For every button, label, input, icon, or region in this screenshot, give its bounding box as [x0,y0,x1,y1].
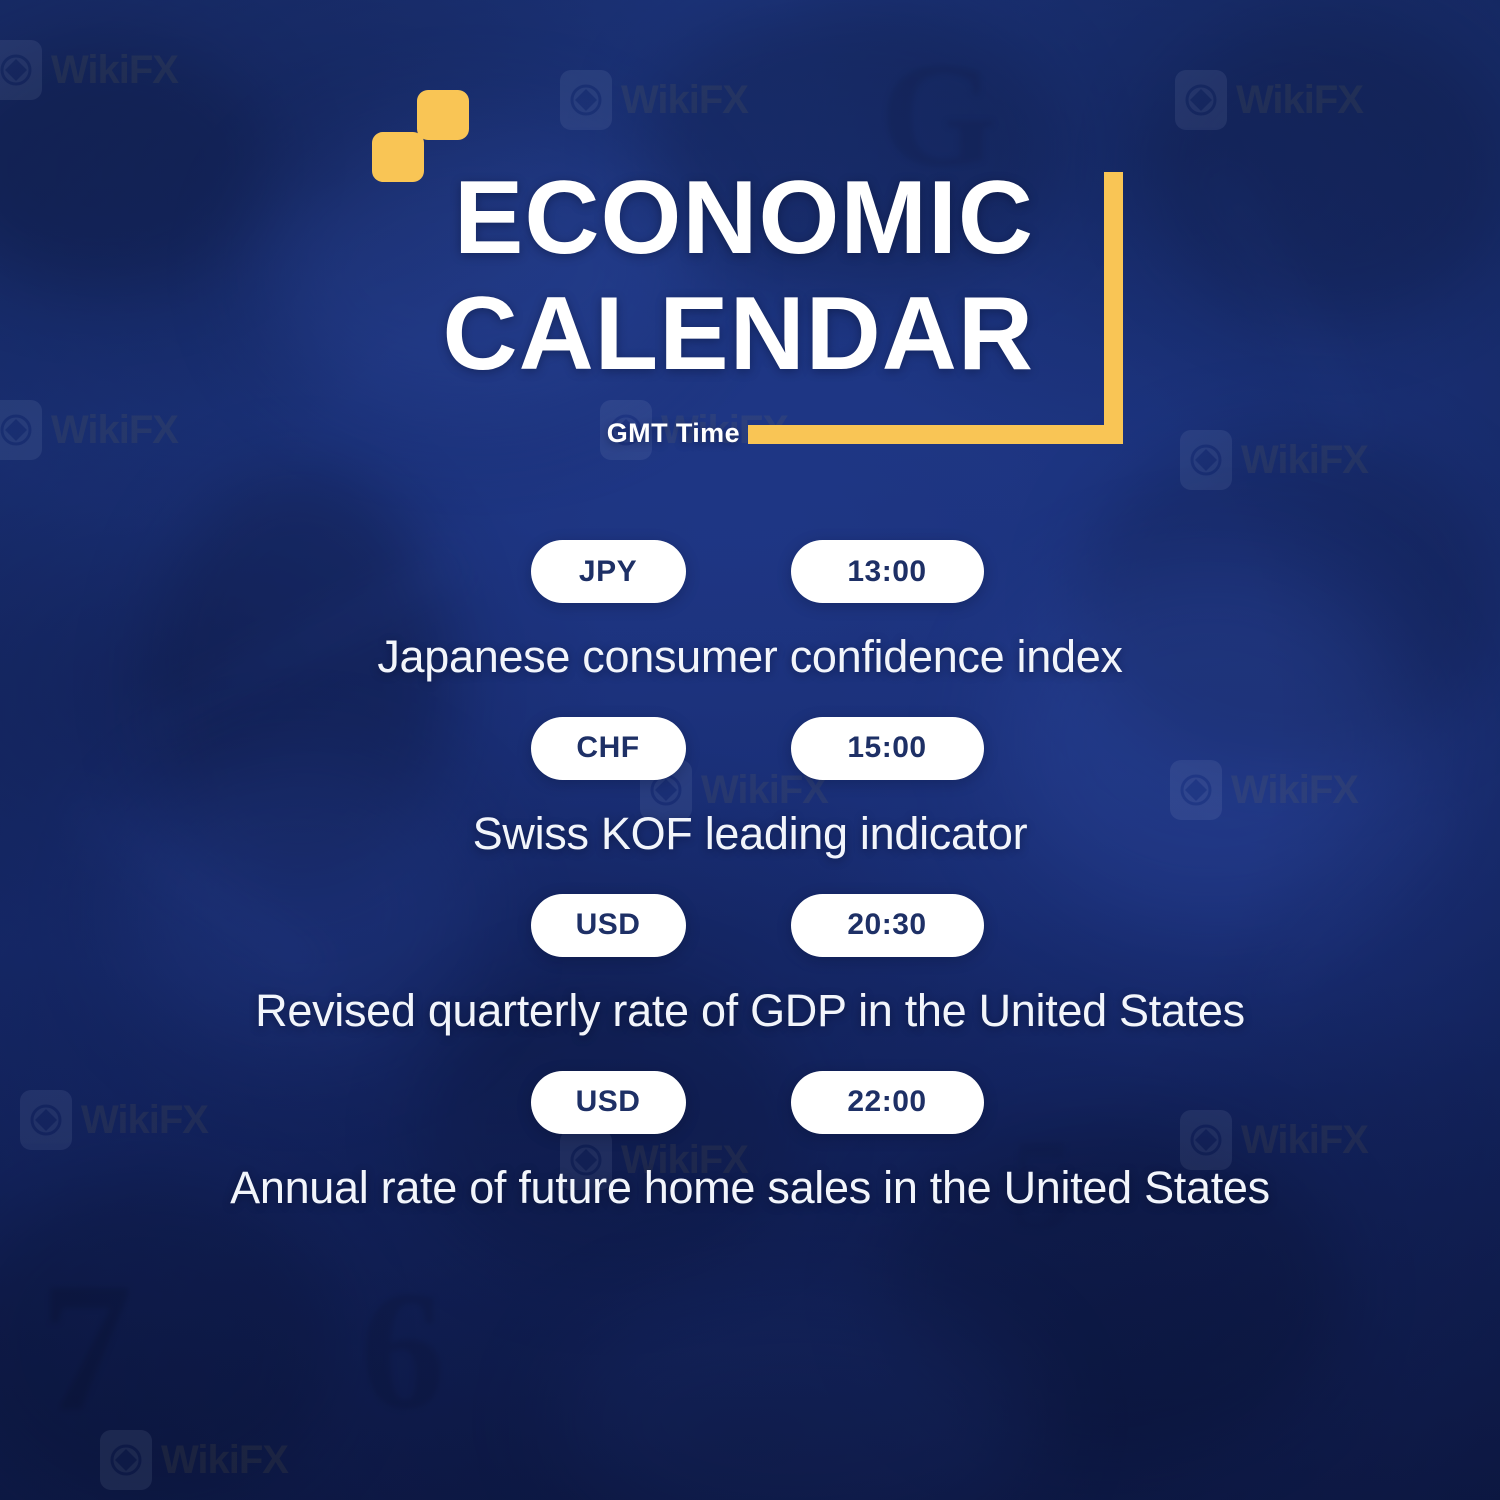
event-row: JPY 13:00 Japanese consumer confidence i… [0,540,1500,689]
currency-badge[interactable]: JPY [531,540,686,603]
time-badge[interactable]: 13:00 [791,540,984,603]
timezone-label: GMT Time [0,418,740,449]
page-title-line-1: ECONOMIC [0,160,1090,276]
poster-header: ECONOMIC CALENDAR GMT Time [0,0,1500,500]
event-row: CHF 15:00 Swiss KOF leading indicator [0,717,1500,866]
page-title-line-2: CALENDAR [0,276,1090,392]
event-pills: CHF 15:00 [0,717,1500,780]
accent-bracket-horizontal [748,425,1123,444]
event-description: Revised quarterly rate of GDP in the Uni… [0,979,1500,1043]
event-row: USD 22:00 Annual rate of future home sal… [0,1071,1500,1220]
event-description: Japanese consumer confidence index [0,625,1500,689]
time-badge[interactable]: 20:30 [791,894,984,957]
event-pills: USD 22:00 [0,1071,1500,1134]
currency-badge[interactable]: USD [531,1071,686,1134]
events-list: JPY 13:00 Japanese consumer confidence i… [0,540,1500,1220]
time-badge[interactable]: 22:00 [791,1071,984,1134]
logo-square-top [417,90,469,140]
event-pills: JPY 13:00 [0,540,1500,603]
time-badge[interactable]: 15:00 [791,717,984,780]
currency-badge[interactable]: CHF [531,717,686,780]
event-description: Annual rate of future home sales in the … [0,1156,1500,1220]
economic-calendar-poster: 7 6 G 5 WikiFX WikiFX WikiFX [0,0,1500,1500]
event-pills: USD 20:30 [0,894,1500,957]
currency-badge[interactable]: USD [531,894,686,957]
accent-bracket-vertical [1104,172,1123,444]
page-title: ECONOMIC CALENDAR [0,160,1090,393]
spacer [0,1043,1500,1071]
event-description: Swiss KOF leading indicator [0,802,1500,866]
spacer [0,689,1500,717]
event-row: USD 20:30 Revised quarterly rate of GDP … [0,894,1500,1043]
spacer [0,866,1500,894]
